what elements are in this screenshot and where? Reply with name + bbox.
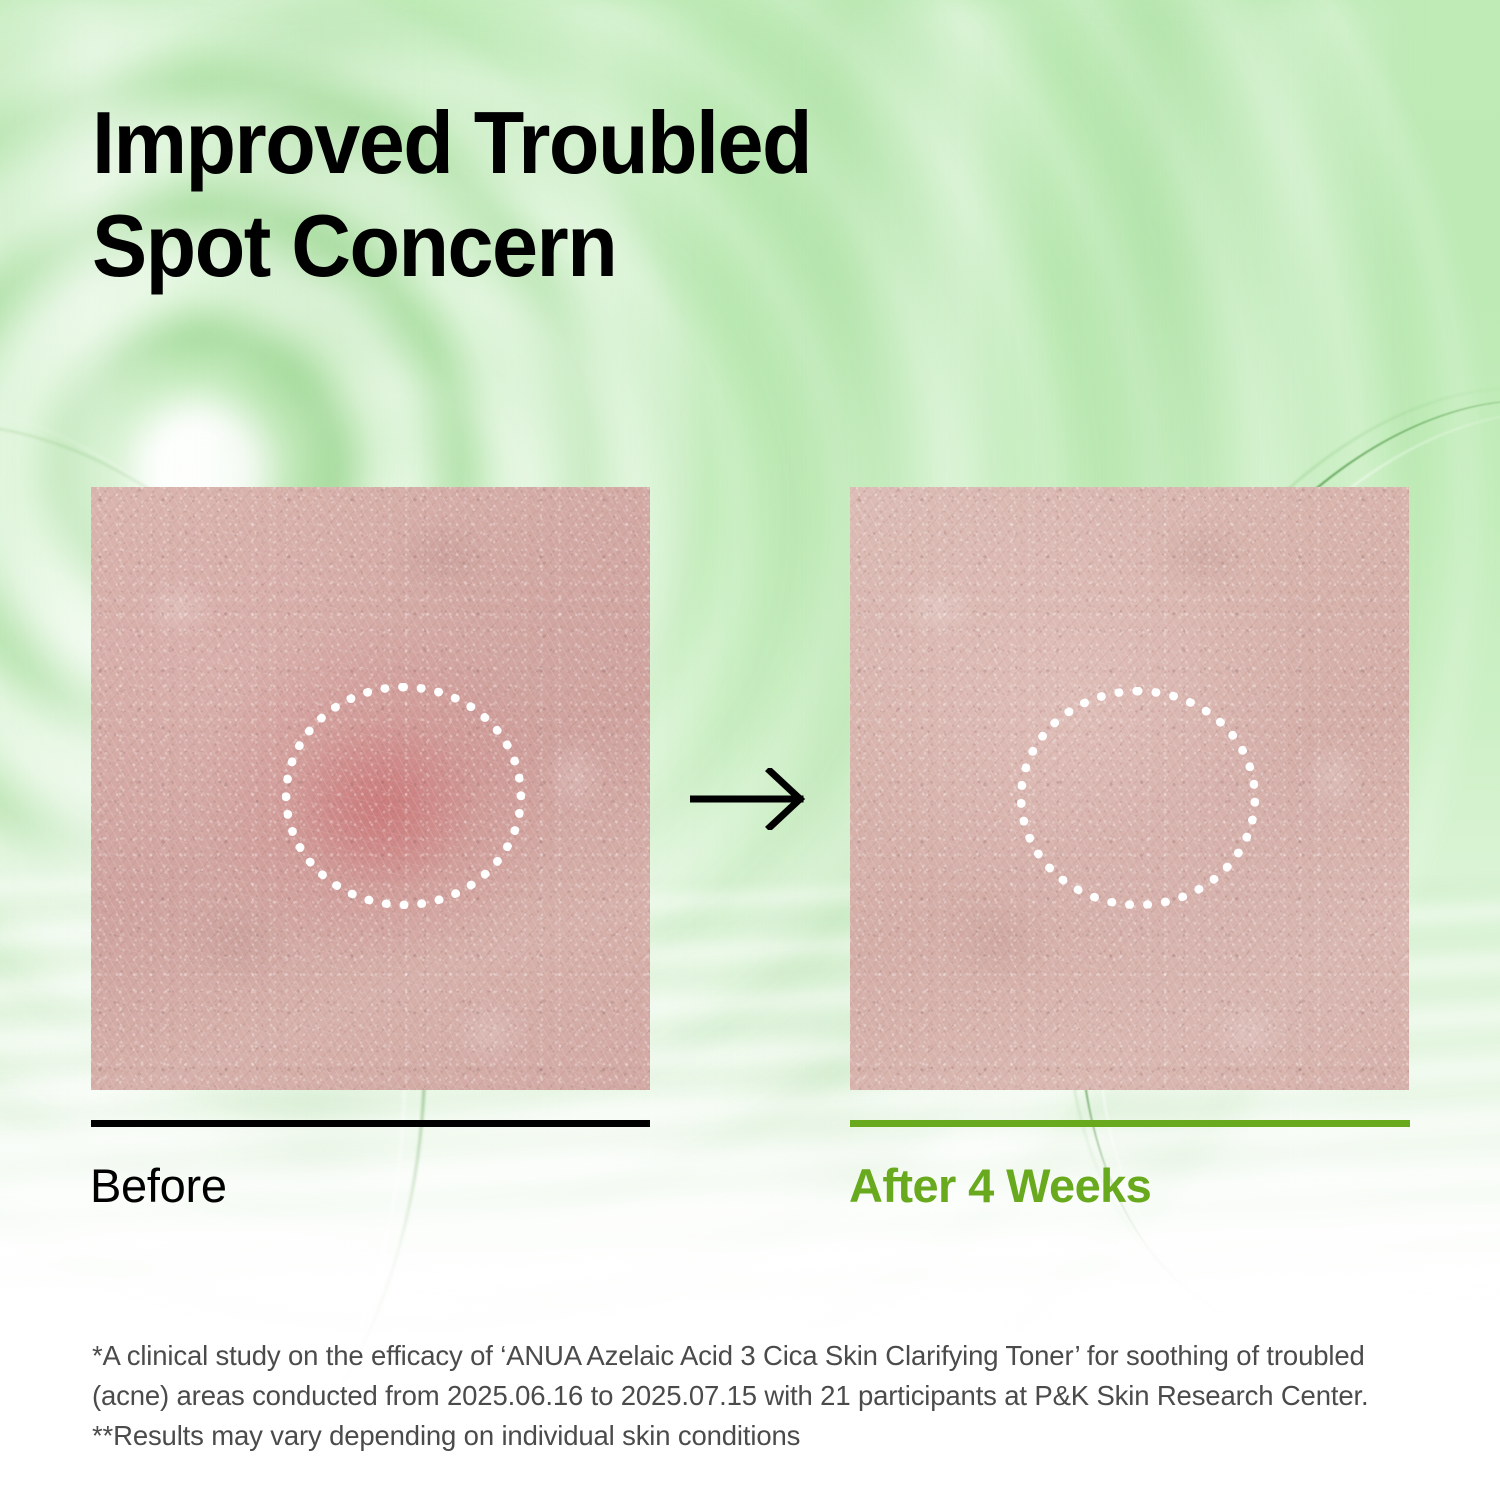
after-photo [850,487,1409,1090]
footnote: *A clinical study on the efficacy of ‘AN… [92,1336,1412,1456]
before-divider-bar [91,1120,650,1127]
ad-creative: Improved Troubled Spot Concern Before Af… [0,0,1500,1500]
before-label: Before [90,1160,227,1212]
arrow-right-icon [690,768,810,830]
footnote-line-3: **Results may vary depending on individu… [92,1416,1412,1456]
after-divider-bar [850,1120,1410,1127]
before-photo [91,487,650,1090]
dotted-circle-marker [1017,687,1259,909]
after-label: After 4 Weeks [849,1160,1151,1212]
headline: Improved Troubled Spot Concern [92,92,811,298]
dotted-circle-marker [282,683,525,909]
footnote-line-2: (acne) areas conducted from 2025.06.16 t… [92,1376,1412,1416]
footnote-line-1: *A clinical study on the efficacy of ‘AN… [92,1336,1412,1376]
